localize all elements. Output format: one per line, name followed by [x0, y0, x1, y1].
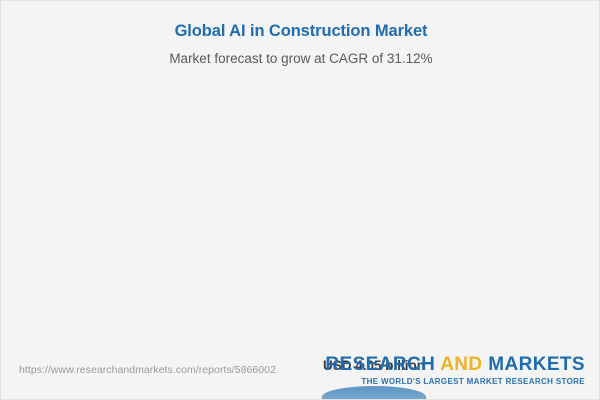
- chart-header: Global AI in Construction Market Market …: [1, 1, 600, 68]
- chart-footer: https://www.researchandmarkets.com/repor…: [1, 346, 600, 399]
- brand-logo[interactable]: RESEARCH AND MARKETS THE WORLD'S LARGEST…: [325, 354, 585, 386]
- chart-subtitle: Market forecast to grow at CAGR of 31.12…: [1, 50, 600, 68]
- plot-area: USD 1.37 billion 2023 USD 4.05 billion: [1, 81, 600, 346]
- page-title: Global AI in Construction Market: [1, 21, 600, 41]
- chart-card: Global AI in Construction Market Market …: [0, 0, 600, 400]
- brand-word-and: AND: [440, 354, 482, 375]
- brand-tagline: THE WORLD'S LARGEST MARKET RESEARCH STOR…: [325, 377, 585, 386]
- brand-name: RESEARCH AND MARKETS: [325, 354, 585, 376]
- source-url-link[interactable]: https://www.researchandmarkets.com/repor…: [19, 364, 276, 376]
- brand-word-markets: MARKETS: [488, 354, 585, 375]
- brand-word-research: RESEARCH: [325, 354, 435, 375]
